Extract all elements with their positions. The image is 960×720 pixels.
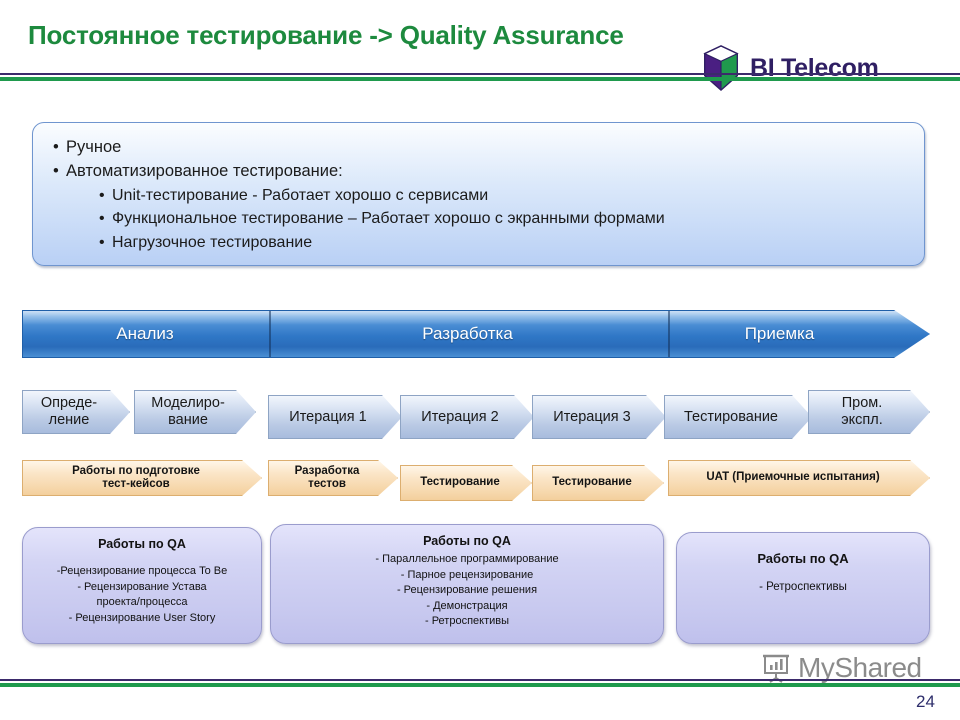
qa-box-line: - Рецензирование решения [397, 583, 537, 599]
qa-box-line: - Парное рецензирование [401, 568, 533, 584]
qa-task-chevron-test-case-prep[interactable]: Работы по подготовкетест-кейсов [22, 460, 262, 496]
qa-box-development[interactable]: Работы по QA - Параллельное программиров… [270, 524, 664, 644]
qa-box-line: - Рецензирование User Story [69, 611, 216, 627]
qa-task-chevron-testing-1[interactable]: Тестирование [400, 465, 532, 501]
phase-label-development[interactable]: Разработка [268, 310, 667, 358]
stage-chevron-iteration-2[interactable]: Итерация 2 [400, 395, 534, 439]
bullet-item: •Нагрузочное тестирование [47, 231, 910, 255]
bullet-item-label: Автоматизированное тестирование: [66, 162, 343, 180]
bullet-panel: •Ручное •Автоматизированное тестирование… [32, 122, 925, 266]
qa-box-line: -Рецензирование процесса To Be [57, 564, 227, 580]
bullet-item-label: Ручное [66, 138, 121, 156]
bullet-item-label: Функциональное тестирование – Работает х… [112, 210, 665, 227]
bullet-item: •Ручное [47, 135, 910, 159]
phase-label-analysis[interactable]: Анализ [22, 310, 268, 358]
slide: Постоянное тестирование -> Quality Assur… [0, 0, 960, 720]
stage-chevron-testing[interactable]: Тестирование [664, 395, 812, 439]
bullet-item: •Функциональное тестирование – Работает … [47, 207, 910, 231]
cube-logo-icon [700, 44, 742, 92]
qa-box-title: Работы по QA [757, 551, 848, 566]
bullet-glyph: • [99, 184, 112, 208]
qa-box-line: проекта/процесса [97, 595, 188, 611]
bullet-glyph: • [99, 231, 112, 255]
qa-task-chevron-uat[interactable]: UAT (Приемочные испытания) [668, 460, 930, 496]
qa-box-line: - Ретроспективы [759, 579, 847, 595]
stage-chevron-modeling[interactable]: Моделиро-вание [134, 390, 256, 434]
stage-chevron-iteration-3[interactable]: Итерация 3 [532, 395, 666, 439]
stage-chevron-definition[interactable]: Опреде-ление [22, 390, 130, 434]
footer-rule-green [0, 683, 960, 687]
qa-box-title: Работы по QA [423, 534, 511, 548]
bullet-item: •Автоматизированное тестирование: [47, 159, 910, 183]
qa-box-acceptance[interactable]: Работы по QA - Ретроспективы [676, 532, 930, 644]
qa-box-analysis[interactable]: Работы по QA -Рецензирование процесса To… [22, 527, 262, 644]
page-title: Постоянное тестирование -> Quality Assur… [28, 20, 624, 51]
qa-box-title: Работы по QA [98, 537, 186, 551]
phase-label-acceptance[interactable]: Приемка [667, 310, 892, 358]
brand-logo: BI Telecom [700, 44, 879, 92]
bullet-item-label: Unit-тестирование - Работает хорошо с се… [112, 187, 488, 204]
bullet-item: •Unit-тестирование - Работает хорошо с с… [47, 184, 910, 208]
page-number: 24 [916, 692, 935, 712]
qa-box-line: - Рецензирование Устава [77, 580, 206, 596]
qa-box-line: - Ретроспективы [425, 614, 509, 630]
footer-rule-purple [0, 679, 960, 681]
bullet-item-label: Нагрузочное тестирование [112, 234, 312, 251]
qa-task-chevron-test-development[interactable]: Разработкатестов [268, 460, 398, 496]
stage-chevron-production[interactable]: Пром.экспл. [808, 390, 930, 434]
stage-chevron-iteration-1[interactable]: Итерация 1 [268, 395, 402, 439]
header-rule-purple [0, 73, 960, 75]
bullet-glyph: • [99, 207, 112, 231]
qa-box-line: - Параллельное программирование [375, 552, 558, 568]
qa-task-chevron-testing-2[interactable]: Тестирование [532, 465, 664, 501]
phase-bar: Анализ Разработка Приемка [22, 310, 930, 358]
qa-box-line: - Демонстрация [426, 599, 507, 615]
bullet-glyph: • [53, 135, 66, 159]
bullet-glyph: • [53, 159, 66, 183]
header-rule-green [0, 77, 960, 81]
